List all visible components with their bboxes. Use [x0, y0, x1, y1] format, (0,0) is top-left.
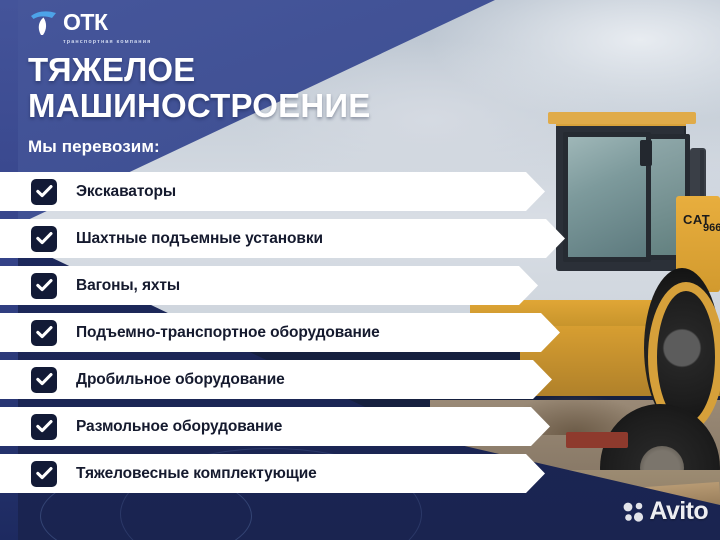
check-icon [31, 367, 57, 393]
list-item-label: Шахтные подъемные установки [76, 230, 323, 248]
list-item-label: Тяжеловесные комплектующие [76, 465, 317, 483]
list-item-label: Экскаваторы [76, 183, 176, 201]
cat-model-badge: 966 [703, 222, 720, 234]
loader-cab-window-front [563, 132, 651, 262]
list-item-bar: Вагоны, яхты [0, 266, 538, 305]
list-item-bar: Дробильное оборудование [0, 360, 552, 399]
check-icon [31, 414, 57, 440]
avito-dots-icon [623, 501, 645, 523]
logo-subtitle: транспортная компания [63, 39, 151, 45]
avito-wordmark: Avito [649, 497, 708, 526]
list-item-bar: Подъемно-транспортное оборудование [0, 313, 560, 352]
list-item-bar: Размольное оборудование [0, 407, 550, 446]
swoosh-leaf-icon [30, 9, 60, 37]
check-icon [31, 273, 57, 299]
list-item-label: Дробильное оборудование [76, 371, 285, 389]
page-title: ТЯЖЕЛОЕ МАШИНОСТРОЕНИЕ [28, 52, 498, 124]
loader-mirror [640, 140, 652, 166]
avito-watermark: Avito [623, 497, 708, 526]
check-icon [31, 461, 57, 487]
list-item-bar: Тяжеловесные комплектующие [0, 454, 545, 493]
red-machinery-part [566, 432, 628, 448]
loader-cab-roof [548, 112, 696, 124]
company-logo: ОТК транспортная компания [30, 9, 107, 37]
subheading: Мы перевозим: [28, 137, 160, 157]
headline-line-2: МАШИНОСТРОЕНИЕ [28, 88, 498, 124]
list-item-bar: Экскаваторы [0, 172, 545, 211]
list-item-label: Вагоны, яхты [76, 277, 180, 295]
headline-line-1: ТЯЖЕЛОЕ [28, 51, 196, 88]
logo-text: ОТК [63, 9, 107, 35]
promo-banner: CAT 966 ОТК транспортная компания ТЯЖЕЛО… [0, 0, 720, 540]
list-item-label: Подъемно-транспортное оборудование [76, 324, 380, 342]
list-item-label: Размольное оборудование [76, 418, 282, 436]
check-icon [31, 226, 57, 252]
list-item-bar: Шахтные подъемные установки [0, 219, 565, 258]
check-icon [31, 320, 57, 346]
check-icon [31, 179, 57, 205]
